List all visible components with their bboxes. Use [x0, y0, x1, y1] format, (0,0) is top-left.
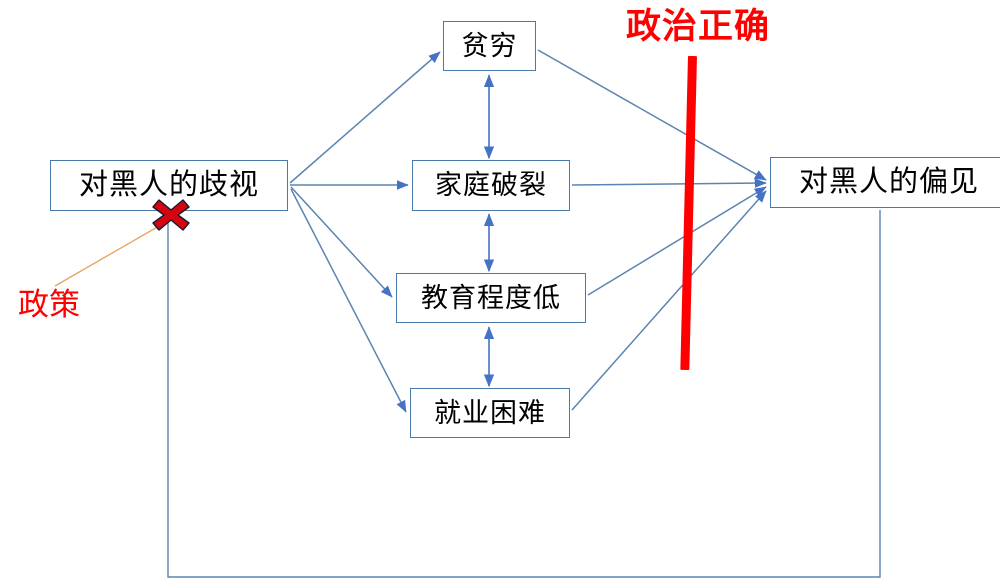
node-low-education[interactable]: 教育程度低 — [396, 273, 586, 323]
edges-to-prejudice — [538, 50, 766, 410]
node-poverty-label: 贫穷 — [462, 33, 518, 60]
node-employment-difficulty[interactable]: 就业困难 — [410, 388, 570, 438]
edge-education-to-prejudice — [588, 187, 766, 295]
diagram-canvas: 对黑人的歧视 贫穷 家庭破裂 教育程度低 就业困难 对黑人的偏见 政策 政治正确 — [0, 0, 1000, 588]
node-low-education-label: 教育程度低 — [421, 285, 561, 312]
edges-from-discrimination — [290, 52, 440, 412]
edge-poverty-to-prejudice — [538, 50, 766, 180]
node-prejudice[interactable]: 对黑人的偏见 — [770, 157, 1000, 208]
node-employment-difficulty-label: 就业困难 — [434, 400, 546, 427]
node-poverty[interactable]: 贫穷 — [443, 21, 536, 71]
edge-discrimination-to-employment — [291, 189, 406, 412]
node-family-breakdown-label: 家庭破裂 — [435, 172, 547, 199]
node-prejudice-label: 对黑人的偏见 — [799, 168, 979, 197]
edge-family-to-prejudice — [572, 183, 766, 185]
red-x-mark-icon — [151, 194, 191, 234]
annotation-policy: 政策 — [18, 289, 80, 320]
policy-leader-line — [55, 222, 166, 286]
node-family-breakdown[interactable]: 家庭破裂 — [412, 160, 570, 211]
edge-employment-to-prejudice — [572, 191, 766, 410]
edge-discrimination-to-education — [291, 187, 392, 297]
annotation-political-correctness: 政治正确 — [626, 9, 770, 44]
